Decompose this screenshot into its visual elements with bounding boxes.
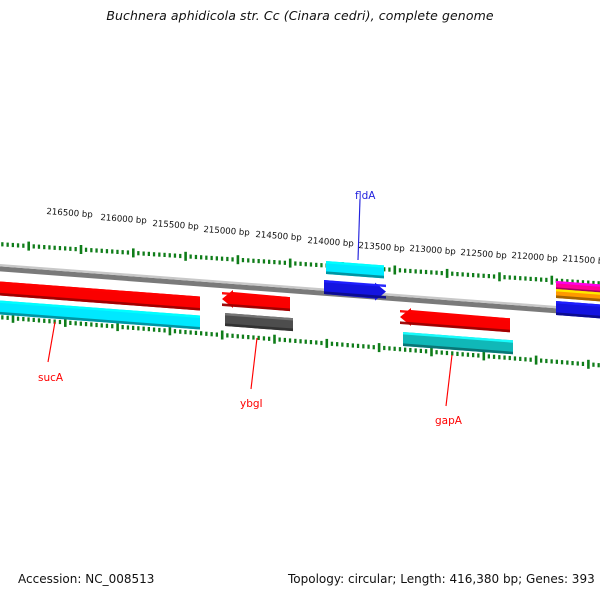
ruler-minor-tick (467, 273, 469, 277)
ruler-minor-tick (148, 252, 150, 256)
ruler-minor-tick (231, 257, 233, 261)
ruler-minor-tick (430, 270, 432, 274)
ruler-minor-tick (294, 339, 296, 343)
ruler-minor-tick (472, 273, 474, 277)
ruler-minor-tick (137, 326, 139, 330)
ruler-minor-tick (451, 351, 453, 355)
ruler-minor-tick (305, 340, 307, 344)
ruler-minor-tick (294, 261, 296, 265)
gene-segment-gapA_red[interactable] (400, 308, 510, 332)
ruler-minor-tick (184, 330, 186, 334)
ruler-minor-tick (305, 262, 307, 266)
accession-text: Accession: NC_008513 (18, 572, 154, 586)
ruler-minor-tick (299, 339, 301, 343)
ruler-minor-tick (310, 262, 312, 266)
ruler-minor-tick (279, 260, 281, 264)
ruler-minor-tick (383, 346, 385, 350)
ruler-minor-tick (38, 245, 40, 249)
ruler-minor-tick (252, 335, 254, 339)
ruler-minor-tick (158, 253, 160, 257)
ruler-minor-tick (477, 353, 479, 357)
ruler-minor-tick (299, 262, 301, 266)
ruler-minor-tick (514, 276, 516, 280)
ruler-minor-tick (95, 323, 97, 327)
ruler-major-tick (116, 322, 119, 331)
ruler-minor-tick (472, 353, 474, 357)
ruler-minor-tick (85, 248, 87, 252)
ruler-minor-tick (54, 246, 56, 250)
ruler-major-tick (446, 269, 449, 278)
ruler-minor-tick (48, 319, 50, 323)
ruler-minor-tick (503, 275, 505, 279)
ruler-minor-tick (231, 334, 233, 338)
ruler-minor-tick (17, 243, 19, 247)
ruler-minor-tick (1, 242, 3, 246)
ruler-minor-tick (571, 361, 573, 365)
ruler-minor-tick (336, 342, 338, 346)
ruler-minor-tick (420, 349, 422, 353)
gene-leader-line-ybgI (251, 338, 257, 389)
ruler-minor-tick (441, 351, 443, 355)
ruler-minor-tick (493, 355, 495, 359)
ruler-minor-tick (462, 352, 464, 356)
ruler-major-tick (535, 356, 538, 365)
ruler-major-tick (378, 343, 381, 352)
ruler-major-tick (289, 259, 292, 268)
ruler-minor-tick (341, 343, 343, 347)
ruler-minor-tick (43, 319, 45, 323)
ruler-minor-tick (22, 317, 24, 321)
gene-segment-gapA_teal[interactable] (403, 332, 513, 354)
ruler-minor-tick (7, 243, 9, 247)
ruler-minor-tick (524, 357, 526, 361)
ruler-minor-tick (446, 351, 448, 355)
ruler-minor-tick (247, 258, 249, 262)
ruler-minor-tick (237, 334, 239, 338)
ruler-minor-tick (399, 268, 401, 272)
ruler-minor-tick (535, 277, 537, 281)
ruler-minor-tick (242, 335, 244, 339)
ruler-minor-tick (163, 253, 165, 257)
ruler-major-tick (326, 339, 329, 348)
ruler-minor-tick (38, 318, 40, 322)
ruler-minor-tick (7, 316, 9, 320)
ruler-minor-tick (1, 315, 3, 319)
ruler-minor-tick (132, 326, 134, 330)
ruler-minor-tick (488, 354, 490, 358)
ruler-minor-tick (404, 348, 406, 352)
ruler-minor-tick (33, 318, 35, 322)
ruler-minor-tick (456, 272, 458, 276)
ruler-minor-tick (85, 322, 87, 326)
ruler-minor-tick (216, 333, 218, 337)
ruler-minor-tick (268, 337, 270, 341)
gene-label-fldA[interactable]: fldA (355, 190, 375, 202)
ruler-minor-tick (514, 356, 516, 360)
genome-viewer-canvas[interactable]: Buchnera aphidicola str. Cc (Cinara cedr… (0, 0, 600, 600)
ruler-minor-tick (409, 348, 411, 352)
genome-summary-text: Topology: circular; Length: 416,380 bp; … (288, 572, 595, 586)
ruler-minor-tick (592, 363, 594, 367)
ruler-minor-tick (441, 271, 443, 275)
ruler-minor-tick (90, 322, 92, 326)
ruler-minor-tick (435, 271, 437, 275)
ruler-minor-tick (252, 259, 254, 263)
ruler-minor-tick (477, 273, 479, 277)
ruler-minor-tick (127, 250, 129, 254)
ruler-minor-tick (524, 276, 526, 280)
ruler-major-tick (27, 242, 30, 251)
ruler-minor-tick (33, 244, 35, 248)
ruler-minor-tick (90, 248, 92, 252)
ruler-minor-tick (190, 255, 192, 259)
ruler-major-tick (237, 255, 240, 264)
ruler-minor-tick (347, 343, 349, 347)
ruler-major-tick (498, 272, 501, 281)
ruler-minor-tick (420, 270, 422, 274)
ruler-minor-tick (127, 325, 129, 329)
ruler-major-tick (169, 326, 172, 335)
ruler-minor-tick (179, 330, 181, 334)
ruler-minor-tick (242, 258, 244, 262)
ruler-minor-tick (101, 323, 103, 327)
ruler-minor-tick (556, 360, 558, 364)
ruler-minor-tick (106, 249, 108, 253)
ruler-minor-tick (456, 352, 458, 356)
ruler-minor-tick (137, 251, 139, 255)
ruler-minor-tick (263, 259, 265, 263)
ruler-major-tick (221, 331, 224, 340)
ruler-minor-tick (101, 249, 103, 253)
gene-segment-far_blue[interactable] (556, 301, 600, 319)
ruler-minor-tick (116, 250, 118, 254)
ruler-minor-tick (561, 360, 563, 364)
ruler-minor-tick (80, 322, 82, 326)
ruler-minor-tick (540, 278, 542, 282)
ruler-major-tick (551, 276, 554, 285)
ruler-minor-tick (545, 278, 547, 282)
ruler-minor-tick (200, 255, 202, 259)
ruler-minor-tick (221, 257, 223, 261)
ruler-minor-tick (582, 362, 584, 366)
ruler-minor-tick (190, 330, 192, 334)
ruler-minor-tick (211, 332, 213, 336)
ruler-minor-tick (143, 327, 145, 331)
ruler-minor-tick (425, 270, 427, 274)
genome-graphics (0, 0, 600, 600)
ruler-minor-tick (43, 245, 45, 249)
ruler-minor-tick (399, 347, 401, 351)
gene-label-gapA[interactable]: gapA (435, 415, 462, 427)
ruler-minor-tick (148, 327, 150, 331)
ruler-major-tick (430, 347, 433, 356)
ruler-minor-tick (48, 245, 50, 249)
ruler-minor-tick (226, 333, 228, 337)
ruler-minor-tick (174, 329, 176, 333)
ruler-minor-tick (59, 246, 61, 250)
ruler-minor-tick (27, 317, 29, 321)
ruler-minor-tick (467, 353, 469, 357)
gene-segment-ybgI_red[interactable] (222, 290, 290, 311)
ruler-minor-tick (373, 345, 375, 349)
ruler-minor-tick (273, 260, 275, 264)
ruler-minor-tick (174, 254, 176, 258)
ruler-minor-tick (106, 324, 108, 328)
gene-segment-fldA_cyan[interactable] (326, 261, 384, 278)
ruler-minor-tick (483, 274, 485, 278)
ruler-minor-tick (153, 252, 155, 256)
ruler-minor-tick (258, 259, 260, 263)
ruler-minor-tick (462, 272, 464, 276)
ruler-minor-tick (530, 358, 532, 362)
ruler-minor-tick (519, 276, 521, 280)
ruler-minor-tick (22, 244, 24, 248)
ruler-minor-tick (111, 249, 113, 253)
ruler-minor-tick (367, 345, 369, 349)
ruler-minor-tick (425, 349, 427, 353)
ruler-minor-tick (509, 275, 511, 279)
ruler-minor-tick (540, 359, 542, 363)
ruler-minor-tick (415, 348, 417, 352)
ruler-major-tick (80, 245, 83, 254)
ruler-major-tick (483, 351, 486, 360)
ruler-minor-tick (64, 246, 66, 250)
ruler-minor-tick (415, 269, 417, 273)
ruler-minor-tick (315, 263, 317, 267)
ruler-minor-tick (12, 243, 14, 247)
ruler-minor-tick (388, 268, 390, 272)
ruler-minor-tick (205, 256, 207, 260)
ruler-minor-tick (352, 343, 354, 347)
ruler-minor-tick (163, 328, 165, 332)
ruler-minor-tick (179, 254, 181, 258)
ruler-minor-tick (503, 356, 505, 360)
ruler-minor-tick (69, 247, 71, 251)
ruler-minor-tick (59, 320, 61, 324)
ruler-minor-tick (289, 338, 291, 342)
ruler-minor-tick (509, 356, 511, 360)
ruler-minor-tick (388, 346, 390, 350)
ruler-major-tick (394, 266, 397, 275)
ruler-minor-tick (362, 344, 364, 348)
ruler-major-tick (184, 252, 187, 261)
ruler-minor-tick (279, 338, 281, 342)
ruler-minor-tick (205, 332, 207, 336)
ruler-minor-tick (195, 331, 197, 335)
ruler-minor-tick (268, 260, 270, 264)
ruler-minor-tick (247, 335, 249, 339)
ruler-major-tick (132, 248, 135, 257)
ruler-minor-tick (75, 247, 77, 251)
ruler-minor-tick (69, 321, 71, 325)
ruler-minor-tick (158, 328, 160, 332)
ruler-minor-tick (284, 338, 286, 342)
ruler-minor-tick (357, 344, 359, 348)
ruler-minor-tick (153, 328, 155, 332)
ruler-minor-tick (551, 359, 553, 363)
ruler-minor-tick (310, 340, 312, 344)
ruler-minor-tick (143, 252, 145, 256)
ruler-minor-tick (75, 321, 77, 325)
ruler-minor-tick (545, 359, 547, 363)
upper-ruler-ticks (0, 242, 600, 289)
gene-label-sucA[interactable]: sucA (38, 372, 63, 384)
ruler-minor-tick (331, 342, 333, 346)
ruler-minor-tick (211, 256, 213, 260)
ruler-minor-tick (200, 331, 202, 335)
ruler-minor-tick (451, 272, 453, 276)
ruler-major-tick (273, 335, 276, 344)
ruler-minor-tick (169, 253, 171, 257)
ruler-minor-tick (95, 248, 97, 252)
ruler-minor-tick (195, 255, 197, 259)
ruler-minor-tick (216, 256, 218, 260)
ruler-minor-tick (320, 263, 322, 267)
ruler-minor-tick (284, 261, 286, 265)
ruler-minor-tick (493, 274, 495, 278)
ruler-minor-tick (226, 257, 228, 261)
ruler-minor-tick (315, 340, 317, 344)
ruler-minor-tick (122, 325, 124, 329)
ruler-minor-tick (577, 361, 579, 365)
ruler-minor-tick (320, 341, 322, 345)
gene-leader-line-sucA (48, 322, 55, 362)
ruler-minor-tick (598, 363, 600, 367)
gene-label-ybgI[interactable]: ybgI (240, 398, 263, 410)
ruler-minor-tick (263, 336, 265, 340)
ruler-minor-tick (404, 269, 406, 273)
ruler-minor-tick (122, 250, 124, 254)
ruler-minor-tick (498, 355, 500, 359)
ruler-minor-tick (409, 269, 411, 273)
ruler-minor-tick (488, 274, 490, 278)
status-bar: Accession: NC_008513 Topology: circular;… (0, 566, 600, 600)
ruler-minor-tick (435, 350, 437, 354)
ruler-minor-tick (111, 324, 113, 328)
ruler-minor-tick (530, 277, 532, 281)
ruler-major-tick (587, 360, 590, 369)
ruler-minor-tick (17, 317, 19, 321)
gene-segment-ybgI_gray[interactable] (225, 313, 293, 331)
gene-leader-line-gapA (446, 355, 452, 406)
ruler-minor-tick (566, 361, 568, 365)
ruler-minor-tick (394, 347, 396, 351)
ruler-minor-tick (519, 357, 521, 361)
ruler-minor-tick (258, 336, 260, 340)
